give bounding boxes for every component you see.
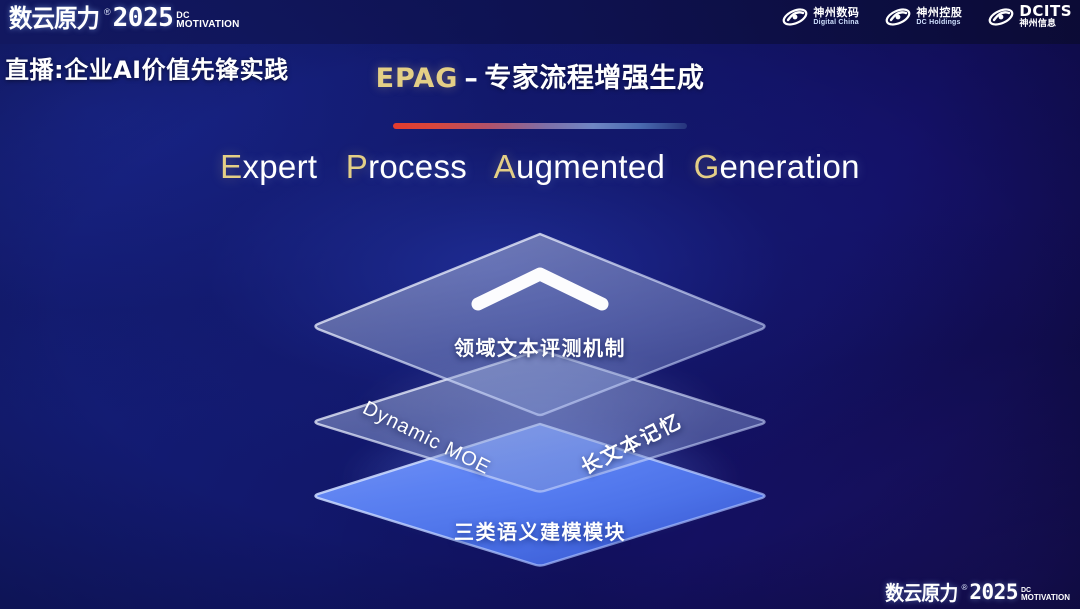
layered-architecture-diagram: 领域文本评测机制 Dynamic MOE 长文本记忆 三类语义建模模块 xyxy=(313,232,767,568)
partner-name-en: Digital China xyxy=(813,19,859,26)
partner-name-en: DC Holdings xyxy=(916,19,962,26)
brand-wordmark-bottom-right: 数云原力 ® 2025 DC MOTIVATION xyxy=(883,582,1070,603)
expansion-rest-generation: eneration xyxy=(720,148,860,185)
brand-year: 2025 xyxy=(969,582,1018,603)
expansion-word-augmented: Augmented xyxy=(494,148,666,185)
expansion-rest-expert: xpert xyxy=(242,148,317,185)
expansion-word-process: Process xyxy=(346,148,467,185)
brand-wordmark-chinese: 数云原力 xyxy=(9,6,99,31)
registered-mark: ® xyxy=(961,584,967,592)
partner-name-cn: 神州数码 xyxy=(813,7,859,19)
galaxy-swirl-icon xyxy=(885,6,911,28)
expansion-space-2 xyxy=(477,148,486,185)
expansion-cap-e: E xyxy=(220,148,242,185)
partner-name-en: 神州信息 xyxy=(1019,20,1072,29)
partner-logo-digital-china: 神州数码 Digital China xyxy=(782,6,859,28)
title-dash: – xyxy=(458,63,484,94)
brand-year: 2025 xyxy=(113,5,174,31)
title-acronym: EPAG xyxy=(376,63,459,94)
brand-dc-motivation: DC MOTIVATION xyxy=(1021,587,1070,602)
brand-wordmark-chinese: 数云原力 xyxy=(885,583,957,603)
partner-name-cn: DCITS xyxy=(1019,4,1072,20)
expansion-cap-p: P xyxy=(346,148,368,185)
brand-dc-line2: MOTIVATION xyxy=(176,20,239,30)
brand-dc-line2: MOTIVATION xyxy=(1021,594,1070,602)
expansion-rest-augmented: ugmented xyxy=(516,148,665,185)
gradient-divider xyxy=(393,123,687,129)
slide-canvas: 数云原力 ® 2025 DC MOTIVATION 直播:企业AI价值先锋实践 … xyxy=(0,0,1080,609)
expansion-space-1 xyxy=(327,148,336,185)
galaxy-swirl-icon xyxy=(988,6,1014,28)
expansion-word-expert: Expert xyxy=(220,148,317,185)
expansion-word-generation: Generation xyxy=(694,148,860,185)
partner-logo-text: 神州数码 Digital China xyxy=(813,7,859,26)
live-subtitle: 直播:企业AI价值先锋实践 xyxy=(5,50,289,85)
expansion-rest-process: rocess xyxy=(368,148,467,185)
partner-logo-dcits: DCITS 神州信息 xyxy=(988,4,1072,29)
title-chinese: 专家流程增强生成 xyxy=(484,63,704,94)
partner-logo-text: 神州控股 DC Holdings xyxy=(916,7,962,26)
registered-mark: ® xyxy=(104,8,111,17)
brand-wordmark-top-left: 数云原力 ® 2025 DC MOTIVATION xyxy=(6,5,240,31)
partner-name-cn: 神州控股 xyxy=(916,7,962,19)
acronym-expansion: Expert Process Augmented Generation xyxy=(0,148,1080,186)
partner-logo-text: DCITS 神州信息 xyxy=(1019,4,1072,29)
expansion-space-3 xyxy=(675,148,684,185)
partner-logo-dc-holdings: 神州控股 DC Holdings xyxy=(885,6,962,28)
galaxy-swirl-icon xyxy=(782,6,808,28)
brand-dc-motivation: DC MOTIVATION xyxy=(176,11,239,30)
expansion-cap-a: A xyxy=(494,148,516,185)
expansion-cap-g: G xyxy=(694,148,720,185)
partner-logo-group: 神州数码 Digital China 神州控股 DC Holdings xyxy=(782,4,1072,29)
